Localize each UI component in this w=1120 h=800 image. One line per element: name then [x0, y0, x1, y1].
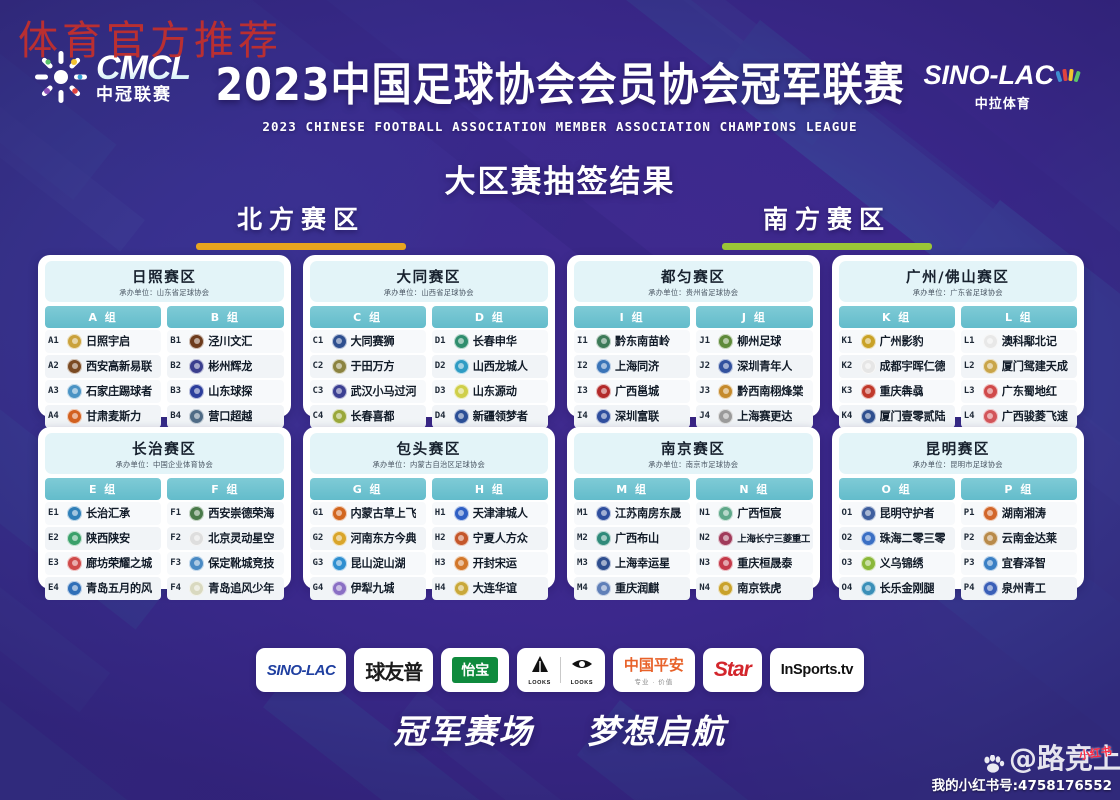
team-code: J4: [699, 411, 714, 421]
team-row[interactable]: G3昆山淀山湖: [310, 552, 426, 575]
venue-card: 包头赛区承办单位：内蒙古自治区足球协会G 组G1内蒙古草上飞G2河南东方今典G3…: [303, 427, 556, 589]
team-crest-icon: [596, 384, 611, 399]
team-row[interactable]: G1内蒙古草上飞: [310, 502, 426, 525]
sponsor-pingan: 中国平安专业 · 价值: [624, 654, 684, 686]
team-crest-icon: [596, 359, 611, 374]
team-code: K3: [842, 386, 857, 396]
team-code: P4: [964, 583, 979, 593]
venue-host: 承办单位：中国企业体育协会: [47, 460, 282, 470]
team-code: F2: [170, 533, 185, 543]
team-row[interactable]: A3石家庄踢球者: [45, 380, 161, 403]
team-name: 深圳青年人: [737, 358, 792, 374]
team-name: 青岛追风少年: [208, 580, 274, 596]
team-row[interactable]: C4长春喜都: [310, 405, 426, 428]
group-header: J 组: [696, 306, 812, 328]
team-row[interactable]: M4重庆润麒: [574, 577, 690, 600]
team-crest-icon: [596, 556, 611, 571]
team-code: A2: [48, 361, 63, 371]
team-name: 黔东南苗岭: [615, 333, 670, 349]
team-row[interactable]: C1大同赛狮: [310, 330, 426, 353]
team-name: 厦门鸳建天成: [1002, 358, 1068, 374]
team-row[interactable]: F2北京灵动星空: [167, 527, 283, 550]
team-crest-icon: [332, 334, 347, 349]
group-columns: O 组O1昆明守护者O2珠海二零三零O3义乌锦绣O4长乐金刚腿P 组P1湖南湘涛…: [839, 478, 1078, 600]
group-header: M 组: [574, 478, 690, 500]
group-column: G 组G1内蒙古草上飞G2河南东方今典G3昆山淀山湖G4伊犁九城: [310, 478, 426, 600]
team-code: I2: [577, 361, 592, 371]
team-code: D3: [435, 386, 450, 396]
venue-card: 昆明赛区承办单位：昆明市足球协会O 组O1昆明守护者O2珠海二零三零O3义乌锦绣…: [832, 427, 1085, 589]
team-row[interactable]: N2上海长宁三菱重工: [696, 527, 812, 550]
group-header: C 组: [310, 306, 426, 328]
team-crest-icon: [718, 334, 733, 349]
group-column: A 组A1日照宇启A2西安高新易联A3石家庄踢球者A4甘肃麦斯力: [45, 306, 161, 428]
team-name: 柳州足球: [737, 333, 781, 349]
venue-title: 昆明赛区: [841, 438, 1076, 459]
team-name: 成都宇晖仁德: [880, 358, 946, 374]
team-code: B1: [170, 336, 185, 346]
group-header: L 组: [961, 306, 1077, 328]
team-code: G1: [313, 508, 328, 518]
fan-icon: [1056, 69, 1082, 89]
sponsor-subtitle: 专业 · 价值: [624, 676, 684, 686]
team-code: A1: [48, 336, 63, 346]
team-row[interactable]: K4厦门壹零贰陆: [839, 405, 955, 428]
team-name: 上海幸运星: [615, 555, 670, 571]
team-crest-icon: [983, 581, 998, 596]
group-columns: I 组I1黔东南苗岭I2上海同济I3广西邕城I4深圳富联J 组J1柳州足球J2深…: [574, 306, 813, 428]
group-column: L 组L1澳科鄅北记L2厦门鸳建天成L3广东蜀地红L4广西骏菱飞速: [961, 306, 1077, 428]
team-name: 广西邕城: [615, 383, 659, 399]
team-row[interactable]: P3宜春泽智: [961, 552, 1077, 575]
team-crest-icon: [189, 581, 204, 596]
sponsor-logo-looks[interactable]: LOOKSLOOKS: [517, 648, 605, 692]
venue-host: 承办单位：山东省足球协会: [47, 288, 282, 298]
team-row[interactable]: B2彬州辉龙: [167, 355, 283, 378]
team-row[interactable]: J2深圳青年人: [696, 355, 812, 378]
region-underline: [196, 243, 406, 250]
team-name: 河南东方今典: [351, 530, 417, 546]
team-crest-icon: [861, 556, 876, 571]
team-row[interactable]: O4长乐金刚腿: [839, 577, 955, 600]
team-row[interactable]: M3上海幸运星: [574, 552, 690, 575]
group-header: F 组: [167, 478, 283, 500]
team-row[interactable]: F3保定靴城竞技: [167, 552, 283, 575]
region-label-south: 南方赛区: [722, 200, 932, 250]
team-code: L1: [964, 336, 979, 346]
team-name: 天津津城人: [473, 505, 528, 521]
team-code: I1: [577, 336, 592, 346]
team-code: E2: [48, 533, 63, 543]
divider: [560, 657, 561, 683]
team-row[interactable]: O1昆明守护者: [839, 502, 955, 525]
team-row[interactable]: L4广西骏菱飞速: [961, 405, 1077, 428]
team-row[interactable]: I3广西邕城: [574, 380, 690, 403]
team-crest-icon: [189, 334, 204, 349]
venue-title: 广州/佛山赛区: [841, 266, 1076, 287]
team-row[interactable]: M1江苏南房东晟: [574, 502, 690, 525]
team-row[interactable]: I4深圳富联: [574, 405, 690, 428]
team-code: K1: [842, 336, 857, 346]
team-row[interactable]: L1澳科鄅北记: [961, 330, 1077, 353]
team-crest-icon: [189, 506, 204, 521]
team-row[interactable]: J4上海赛更达: [696, 405, 812, 428]
team-row[interactable]: D2山西龙城人: [432, 355, 548, 378]
team-row[interactable]: H2宁夏人方众: [432, 527, 548, 550]
group-columns: M 组M1江苏南房东晟M2广西布山M3上海幸运星M4重庆润麒N 组N1广西恒宸N…: [574, 478, 813, 600]
team-name: 宜春泽智: [1002, 555, 1046, 571]
venue-card-header: 日照赛区承办单位：山东省足球协会: [45, 261, 284, 302]
sponsor-name: InSports.tv: [781, 662, 853, 678]
team-code: F1: [170, 508, 185, 518]
promo-tag: 体育官方推荐: [18, 8, 282, 66]
team-crest-icon: [189, 409, 204, 424]
venue-card-header: 广州/佛山赛区承办单位：广东省足球协会: [839, 261, 1078, 302]
team-row[interactable]: L3广东蜀地红: [961, 380, 1077, 403]
venue-host: 承办单位：昆明市足球协会: [841, 460, 1076, 470]
team-crest-icon: [596, 531, 611, 546]
team-row[interactable]: G4伊犁九城: [310, 577, 426, 600]
team-row[interactable]: B1泾川文汇: [167, 330, 283, 353]
team-code: A3: [48, 386, 63, 396]
page-subtitle: 大区赛抽签结果: [0, 156, 1120, 201]
team-crest-icon: [596, 409, 611, 424]
team-name: 保定靴城竞技: [208, 555, 274, 571]
group-header: P 组: [961, 478, 1077, 500]
team-code: G2: [313, 533, 328, 543]
group-column: J 组J1柳州足球J2深圳青年人J3黔西南栩烽棠J4上海赛更达: [696, 306, 812, 428]
team-code: E1: [48, 508, 63, 518]
team-crest-icon: [718, 409, 733, 424]
team-crest-icon: [454, 506, 469, 521]
venue-card-header: 都匀赛区承办单位：贵州省足球协会: [574, 261, 813, 302]
team-row[interactable]: N1广西恒宸: [696, 502, 812, 525]
team-row[interactable]: K3重庆犇骉: [839, 380, 955, 403]
sponsor-logo-qiu[interactable]: 球友普: [354, 648, 433, 692]
sino-lac-name: SINO-LAC: [924, 62, 1055, 89]
group-header: H 组: [432, 478, 548, 500]
team-crest-icon: [189, 556, 204, 571]
team-crest-icon: [189, 359, 204, 374]
team-code: L3: [964, 386, 979, 396]
team-crest-icon: [861, 531, 876, 546]
team-row[interactable]: L2厦门鸳建天成: [961, 355, 1077, 378]
team-crest-icon: [861, 334, 876, 349]
team-crest-icon: [454, 581, 469, 596]
team-name: 珠海二零三零: [880, 530, 946, 546]
page-title-en: 2023 CHINESE FOOTBALL ASSOCIATION MEMBER…: [0, 119, 1120, 134]
team-name: 泾川文汇: [208, 333, 252, 349]
team-code: I4: [577, 411, 592, 421]
venue-card: 大同赛区承办单位：山西省足球协会C 组C1大同赛狮C2于田万方C3武汉小马过河C…: [303, 255, 556, 417]
team-code: N1: [699, 508, 714, 518]
region-label-north: 北方赛区: [196, 200, 406, 250]
team-code: D4: [435, 411, 450, 421]
team-code: E3: [48, 558, 63, 568]
team-crest-icon: [983, 409, 998, 424]
team-name: 大同赛狮: [351, 333, 395, 349]
team-crest-icon: [596, 334, 611, 349]
team-code: M2: [577, 533, 592, 543]
team-crest-icon: [454, 384, 469, 399]
group-column: F 组F1西安崇德荣海F2北京灵动星空F3保定靴城竞技F4青岛追风少年: [167, 478, 283, 600]
team-crest-icon: [332, 409, 347, 424]
team-row[interactable]: K1广州影豹: [839, 330, 955, 353]
sponsor-name: 怡宝: [452, 657, 498, 683]
team-code: B2: [170, 361, 185, 371]
team-code: O3: [842, 558, 857, 568]
team-crest-icon: [332, 581, 347, 596]
team-name: 彬州辉龙: [208, 358, 252, 374]
group-header: B 组: [167, 306, 283, 328]
team-row[interactable]: I2上海同济: [574, 355, 690, 378]
region-underline: [722, 243, 932, 250]
team-name: 廊坊荣耀之城: [86, 555, 152, 571]
team-row[interactable]: C2于田万方: [310, 355, 426, 378]
team-crest-icon: [454, 409, 469, 424]
team-crest-icon: [718, 506, 733, 521]
sponsor-subtitle: LOOKS: [570, 680, 594, 686]
watermark-handle-row: @路竞上 小红书: [932, 745, 1112, 773]
team-row[interactable]: H4大连华谊: [432, 577, 548, 600]
sponsor-logo-star[interactable]: Star: [703, 648, 762, 692]
sponsor-looks-pair: LOOKSLOOKS: [528, 655, 594, 686]
team-name: 伊犁九城: [351, 580, 395, 596]
team-crest-icon: [454, 556, 469, 571]
team-name: 重庆桓晟泰: [737, 555, 792, 571]
team-code: M3: [577, 558, 592, 568]
venue-title: 大同赛区: [312, 266, 547, 287]
team-name: 广西恒宸: [737, 505, 781, 521]
team-name: 昆山淀山湖: [351, 555, 406, 571]
venue-card: 广州/佛山赛区承办单位：广东省足球协会K 组K1广州影豹K2成都宇晖仁德K3重庆…: [832, 255, 1085, 417]
team-name: 开封宋运: [473, 555, 517, 571]
team-row[interactable]: J3黔西南栩烽棠: [696, 380, 812, 403]
team-name: 上海赛更达: [737, 408, 792, 424]
team-code: G4: [313, 583, 328, 593]
group-columns: K 组K1广州影豹K2成都宇晖仁德K3重庆犇骉K4厦门壹零贰陆L 组L1澳科鄅北…: [839, 306, 1078, 428]
group-columns: E 组E1长治汇承E2陕西陕安E3廊坊荣耀之城E4青岛五月的风F 组F1西安崇德…: [45, 478, 284, 600]
group-column: O 组O1昆明守护者O2珠海二零三零O3义乌锦绣O4长乐金刚腿: [839, 478, 955, 600]
looks-eye-icon: LOOKS: [570, 655, 594, 686]
team-name: 武汉小马过河: [351, 383, 417, 399]
team-crest-icon: [67, 409, 82, 424]
team-row[interactable]: B4营口超越: [167, 405, 283, 428]
team-crest-icon: [67, 581, 82, 596]
team-row[interactable]: O2珠海二零三零: [839, 527, 955, 550]
team-crest-icon: [718, 531, 733, 546]
group-column: D 组D1长春申华D2山西龙城人D3山东源动D4新疆领梦者: [432, 306, 548, 428]
team-code: H2: [435, 533, 450, 543]
group-columns: C 组C1大同赛狮C2于田万方C3武汉小马过河C4长春喜都D 组D1长春申华D2…: [310, 306, 549, 428]
team-name: 昆明守护者: [880, 505, 935, 521]
team-code: C3: [313, 386, 328, 396]
team-crest-icon: [983, 359, 998, 374]
team-crest-icon: [718, 359, 733, 374]
team-row[interactable]: A2西安高新易联: [45, 355, 161, 378]
team-name: 长治汇承: [86, 505, 130, 521]
team-code: P3: [964, 558, 979, 568]
team-crest-icon: [983, 531, 998, 546]
sponsor-bar: SINO-LAC球友普怡宝LOOKSLOOKS中国平安专业 · 价值StarIn…: [0, 648, 1120, 692]
team-name: 上海同济: [615, 358, 659, 374]
team-code: J3: [699, 386, 714, 396]
venue-host: 承办单位：南京市足球协会: [576, 460, 811, 470]
venue-title: 南京赛区: [576, 438, 811, 459]
group-column: K 组K1广州影豹K2成都宇晖仁德K3重庆犇骉K4厦门壹零贰陆: [839, 306, 955, 428]
team-row[interactable]: D1长春申华: [432, 330, 548, 353]
team-crest-icon: [454, 359, 469, 374]
group-column: M 组M1江苏南房东晟M2广西布山M3上海幸运星M4重庆润麒: [574, 478, 690, 600]
venue-host: 承办单位：内蒙古自治区足球协会: [312, 460, 547, 470]
team-name: 青岛五月的风: [86, 580, 152, 596]
looks-tent-icon: LOOKS: [528, 655, 551, 686]
team-name: 广西骏菱飞速: [1002, 408, 1068, 424]
watermark-note: 我的小红书号:4758176552: [932, 774, 1112, 794]
team-row[interactable]: N4南京铁虎: [696, 577, 812, 600]
venue-card-header: 大同赛区承办单位：山西省足球协会: [310, 261, 549, 302]
team-code: C1: [313, 336, 328, 346]
team-code: O2: [842, 533, 857, 543]
team-row[interactable]: H3开封宋运: [432, 552, 548, 575]
team-code: F3: [170, 558, 185, 568]
team-row[interactable]: P1湖南湘涛: [961, 502, 1077, 525]
team-row[interactable]: E3廊坊荣耀之城: [45, 552, 161, 575]
team-name: 北京灵动星空: [208, 530, 274, 546]
sponsor-logo-pingan[interactable]: 中国平安专业 · 价值: [613, 648, 695, 692]
slogan-right: 梦想启航: [587, 712, 727, 751]
team-row[interactable]: D3山东源动: [432, 380, 548, 403]
venue-card: 长治赛区承办单位：中国企业体育协会E 组E1长治汇承E2陕西陕安E3廊坊荣耀之城…: [38, 427, 291, 589]
team-code: A4: [48, 411, 63, 421]
group-header: D 组: [432, 306, 548, 328]
team-row[interactable]: C3武汉小马过河: [310, 380, 426, 403]
team-code: L4: [964, 411, 979, 421]
team-name: 石家庄踢球者: [86, 383, 152, 399]
team-code: H4: [435, 583, 450, 593]
team-crest-icon: [983, 384, 998, 399]
sponsor-logo-yibao[interactable]: 怡宝: [441, 648, 509, 692]
team-row[interactable]: K2成都宇晖仁德: [839, 355, 955, 378]
team-row[interactable]: P2云南金达莱: [961, 527, 1077, 550]
team-name: 江苏南房东晟: [615, 505, 681, 521]
slogan-left: 冠军赛场: [394, 712, 534, 751]
team-row[interactable]: E2陕西陕安: [45, 527, 161, 550]
poster-canvas: 体育官方推荐: [0, 0, 1120, 800]
sponsor-logo-insports[interactable]: InSports.tv: [770, 648, 864, 692]
team-name: 重庆犇骉: [880, 383, 924, 399]
team-row[interactable]: F1西安崇德荣海: [167, 502, 283, 525]
team-crest-icon: [67, 384, 82, 399]
group-columns: G 组G1内蒙古草上飞G2河南东方今典G3昆山淀山湖G4伊犁九城H 组H1天津津…: [310, 478, 549, 600]
team-row[interactable]: I1黔东南苗岭: [574, 330, 690, 353]
team-name: 长乐金刚腿: [880, 580, 935, 596]
team-crest-icon: [67, 506, 82, 521]
team-code: I3: [577, 386, 592, 396]
team-row[interactable]: O3义乌锦绣: [839, 552, 955, 575]
team-name: 新疆领梦者: [473, 408, 528, 424]
team-name: 西安崇德荣海: [208, 505, 274, 521]
team-crest-icon: [67, 359, 82, 374]
venue-card: 南京赛区承办单位：南京市足球协会M 组M1江苏南房东晟M2广西布山M3上海幸运星…: [567, 427, 820, 589]
team-row[interactable]: E1长治汇承: [45, 502, 161, 525]
team-row[interactable]: E4青岛五月的风: [45, 577, 161, 600]
venue-card: 日照赛区承办单位：山东省足球协会A 组A1日照宇启A2西安高新易联A3石家庄踢球…: [38, 255, 291, 417]
team-code: N4: [699, 583, 714, 593]
team-row[interactable]: M2广西布山: [574, 527, 690, 550]
team-crest-icon: [861, 581, 876, 596]
team-code: M1: [577, 508, 592, 518]
venue-card-header: 南京赛区承办单位：南京市足球协会: [574, 433, 813, 474]
team-row[interactable]: A4甘肃麦斯力: [45, 405, 161, 428]
team-row[interactable]: N3重庆桓晟泰: [696, 552, 812, 575]
team-code: J1: [699, 336, 714, 346]
team-row[interactable]: P4泉州青工: [961, 577, 1077, 600]
team-name: 营口超越: [208, 408, 252, 424]
team-crest-icon: [67, 556, 82, 571]
group-header: A 组: [45, 306, 161, 328]
team-crest-icon: [332, 531, 347, 546]
venue-card: 都匀赛区承办单位：贵州省足球协会I 组I1黔东南苗岭I2上海同济I3广西邕城I4…: [567, 255, 820, 417]
team-crest-icon: [596, 506, 611, 521]
team-crest-icon: [718, 581, 733, 596]
group-column: B 组B1泾川文汇B2彬州辉龙B3山东球探B4营口超越: [167, 306, 283, 428]
sponsor-name: Star: [714, 658, 751, 682]
team-code: N2: [699, 533, 714, 543]
venue-host: 承办单位：广东省足球协会: [841, 288, 1076, 298]
sino-lac-logo: SINO-LAC 中拉体育: [924, 62, 1083, 112]
team-crest-icon: [861, 359, 876, 374]
team-row[interactable]: B3山东球探: [167, 380, 283, 403]
team-row[interactable]: H1天津津城人: [432, 502, 548, 525]
team-code: J2: [699, 361, 714, 371]
region-name: 南方赛区: [722, 200, 932, 236]
team-crest-icon: [332, 384, 347, 399]
group-column: E 组E1长治汇承E2陕西陕安E3廊坊荣耀之城E4青岛五月的风: [45, 478, 161, 600]
team-name: 山西龙城人: [473, 358, 528, 374]
team-row[interactable]: D4新疆领梦者: [432, 405, 548, 428]
team-name: 大连华谊: [473, 580, 517, 596]
team-crest-icon: [718, 384, 733, 399]
team-code: B3: [170, 386, 185, 396]
team-code: H3: [435, 558, 450, 568]
group-columns: A 组A1日照宇启A2西安高新易联A3石家庄踢球者A4甘肃麦斯力B 组B1泾川文…: [45, 306, 284, 428]
team-name: 深圳富联: [615, 408, 659, 424]
team-name: 宁夏人方众: [473, 530, 528, 546]
sino-lac-cn: 中拉体育: [924, 93, 1083, 112]
sponsor-name: 球友普: [365, 656, 422, 685]
paw-icon: [983, 750, 1005, 768]
team-code: K2: [842, 361, 857, 371]
venue-card-header: 长治赛区承办单位：中国企业体育协会: [45, 433, 284, 474]
team-crest-icon: [189, 531, 204, 546]
team-code: P1: [964, 508, 979, 518]
team-code: C4: [313, 411, 328, 421]
sponsor-logo-sino[interactable]: SINO-LAC: [256, 648, 347, 692]
team-row[interactable]: A1日照宇启: [45, 330, 161, 353]
team-crest-icon: [332, 556, 347, 571]
team-name: 日照宇启: [86, 333, 130, 349]
team-name: 西安高新易联: [86, 358, 152, 374]
team-name: 甘肃麦斯力: [86, 408, 141, 424]
team-row[interactable]: G2河南东方今典: [310, 527, 426, 550]
team-row[interactable]: J1柳州足球: [696, 330, 812, 353]
team-crest-icon: [983, 556, 998, 571]
venue-title: 长治赛区: [47, 438, 282, 459]
team-name: 长春喜都: [351, 408, 395, 424]
team-crest-icon: [861, 506, 876, 521]
team-row[interactable]: F4青岛追风少年: [167, 577, 283, 600]
